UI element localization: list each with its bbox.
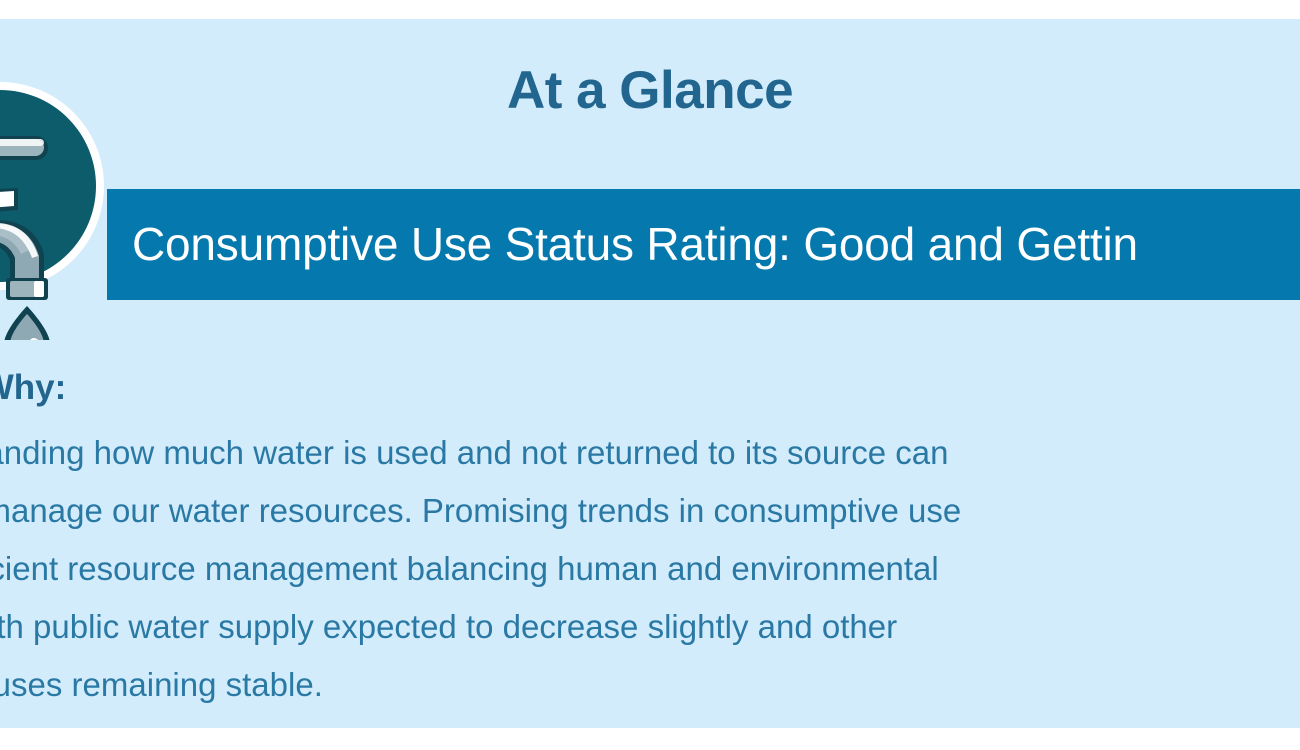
heres-why-body: derstanding how much water is used and n… [0, 424, 1300, 714]
at-a-glance-panel: At a Glance Consumptive Use Status Ratin… [0, 0, 1300, 750]
heres-why-heading: re’s Why: [0, 365, 66, 411]
body-line: derstanding how much water is used and n… [0, 424, 1300, 482]
body-line: ustry uses remaining stable. [0, 656, 1300, 714]
status-banner: Consumptive Use Status Rating: Good and … [107, 189, 1300, 300]
status-banner-label: Consumptive Use Status Rating: Good and … [132, 189, 1138, 300]
page-title: At a Glance [0, 56, 1300, 126]
body-line: w efficient resource management balancin… [0, 540, 1300, 598]
body-line: p us manage our water resources. Promisi… [0, 482, 1300, 540]
body-line: ds, with public water supply expected to… [0, 598, 1300, 656]
